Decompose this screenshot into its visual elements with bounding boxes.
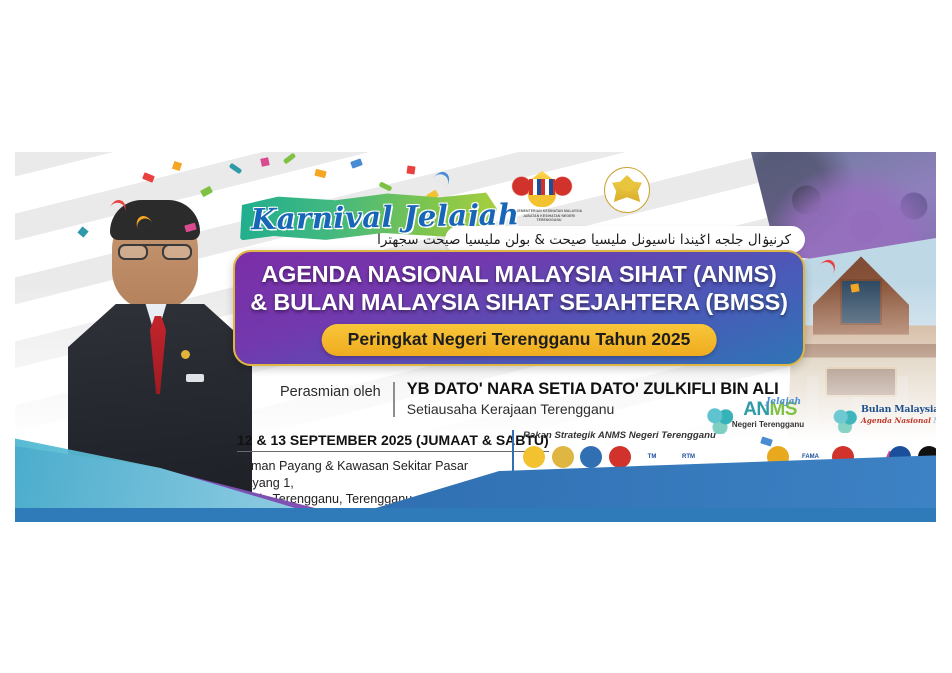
anms-flower-icon xyxy=(707,408,733,434)
anms-jelajah-script: Jelajah xyxy=(766,397,801,407)
portrait-lapel-pin xyxy=(181,350,190,359)
partner-logo-4 xyxy=(609,446,631,468)
event-date: 12 & 13 SEPTEMBER 2025 (JUMAAT & SABTU) xyxy=(237,432,549,452)
glasses-lens-left xyxy=(118,244,148,260)
ministry-of-health-crest: KEMENTERIAN KESIHATAN MALAYSIAJABATAN KE… xyxy=(510,167,588,223)
state-year-pill: Peringkat Negeri Terengganu Tahun 2025 xyxy=(322,324,717,356)
bmss-line-2-b: Malaysia Sihat xyxy=(934,416,937,425)
event-banner: KEMENTERIAN KESIHATAN MALAYSIAJABATAN KE… xyxy=(15,152,936,522)
bmss-logo: Bulan Malaysia Sihat Sejahtera Agenda Na… xyxy=(833,404,936,425)
jawi-title-text: كرنيۏال جلجه اݢيندا ناسيونل مليسيا صيحت … xyxy=(377,232,791,248)
main-title-panel: AGENDA NASIONAL MALAYSIA SIHAT (ANMS) & … xyxy=(233,250,805,366)
jknt-logo xyxy=(552,446,574,468)
crest-group: KEMENTERIAN KESIHATAN MALAYSIAJABATAN KE… xyxy=(510,167,650,223)
glasses-lens-right xyxy=(162,244,192,260)
perasmian-divider xyxy=(393,382,395,417)
rtm-logo: RTM xyxy=(674,449,704,466)
bmss-flower-icon xyxy=(833,409,857,433)
jawi-title-bar: كرنيۏال جلجه اݢيندا ناسيونل مليسيا صيحت … xyxy=(445,226,805,253)
terengganu-state-crest xyxy=(604,167,650,213)
bottom-blue-band xyxy=(15,508,936,522)
portrait-nametag xyxy=(186,374,204,382)
crest-caption: KEMENTERIAN KESIHATAN MALAYSIAJABATAN KE… xyxy=(510,209,588,223)
anms-jelajah-logo: Jelajah ANMS Negeri Terengganu xyxy=(705,400,817,442)
main-title-line-2: & BULAN MALAYSIA SIHAT SEJAHTERA (BMSS) xyxy=(235,289,803,316)
portrait-hair xyxy=(110,200,200,240)
kkm-logo xyxy=(523,446,545,468)
main-title-line-1: AGENDA NASIONAL MALAYSIA SIHAT (ANMS) xyxy=(235,261,803,288)
perasmian-block: Perasmian oleh YB DATO' NARA SETIA DATO'… xyxy=(280,380,779,417)
bmss-line-2-a: Agenda Nasional xyxy=(861,416,931,425)
partner-logo-3 xyxy=(580,446,602,468)
perasmian-label: Perasmian oleh xyxy=(280,380,381,400)
jata-negara-icon xyxy=(510,167,574,207)
tm-logo: TM xyxy=(637,449,667,466)
officiator-name: YB DATO' NARA SETIA DATO' ZULKIFLI BIN A… xyxy=(407,380,779,399)
page-canvas: KEMENTERIAN KESIHATAN MALAYSIAJABATAN KE… xyxy=(0,0,952,673)
